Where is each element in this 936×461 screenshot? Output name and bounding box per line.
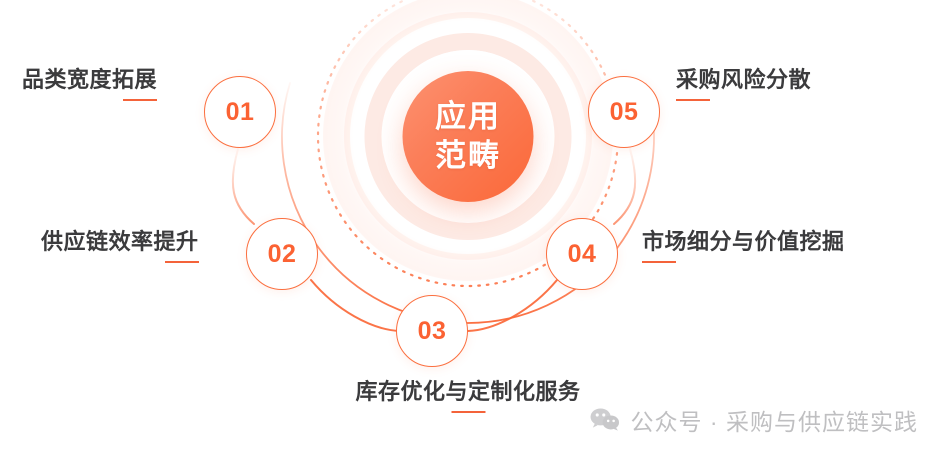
watermark: 公众号 · 采购与供应链实践	[590, 403, 918, 437]
badge-04-number: 04	[568, 240, 597, 269]
badge-03-number: 03	[418, 317, 447, 346]
label-item-03-text: 库存优化与定制化服务	[355, 380, 580, 404]
label-item-03-rule	[451, 411, 485, 413]
label-item-05-rule	[676, 99, 710, 101]
label-item-04: 市场细分与价值挖掘	[642, 230, 845, 263]
badge-04[interactable]: 04	[546, 218, 618, 290]
connector-04-05	[614, 149, 635, 224]
label-item-05: 采购风险分散	[676, 68, 811, 101]
label-item-01-text: 品类宽度拓展	[22, 68, 157, 92]
label-item-02-text: 供应链效率提升	[41, 230, 199, 254]
label-item-01-rule	[123, 99, 157, 101]
badge-05-number: 05	[610, 98, 639, 127]
badge-02-number: 02	[268, 240, 297, 269]
connector-01-02	[233, 149, 254, 224]
label-item-02: 供应链效率提升	[41, 230, 199, 263]
badge-02[interactable]: 02	[246, 218, 318, 290]
label-item-03: 库存优化与定制化服务	[355, 380, 580, 413]
label-item-04-rule	[642, 261, 676, 263]
label-item-04-text: 市场细分与价值挖掘	[642, 230, 845, 254]
label-item-02-rule	[165, 261, 199, 263]
badge-01[interactable]: 01	[204, 76, 276, 148]
badge-05[interactable]: 05	[588, 76, 660, 148]
badge-01-number: 01	[226, 98, 255, 127]
wechat-icon	[590, 407, 620, 433]
badge-03[interactable]: 03	[396, 295, 468, 367]
label-item-05-text: 采购风险分散	[676, 68, 811, 92]
watermark-text: 公众号 · 采购与供应链实践	[631, 403, 918, 437]
infographic-canvas: 应用 范畴	[0, 0, 936, 461]
connector-02-03	[311, 280, 400, 331]
label-item-01: 品类宽度拓展	[22, 68, 157, 101]
